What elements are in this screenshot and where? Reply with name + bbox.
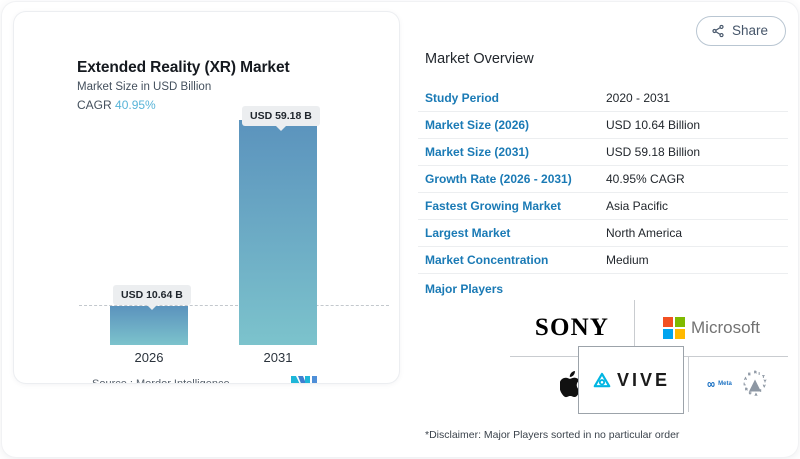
row-label: Market Size (2031)	[425, 145, 606, 159]
svg-text:L: L	[744, 382, 746, 386]
bar-value-label-2026: USD 10.64 B	[113, 285, 191, 305]
overview-title: Market Overview	[425, 51, 534, 67]
svg-text:U: U	[749, 391, 751, 395]
svg-text:E: E	[748, 372, 750, 376]
svg-text:I: I	[759, 371, 760, 375]
row-value: Asia Pacific	[606, 199, 668, 213]
chart-source: Source : Mordor Intelligence	[92, 378, 230, 383]
bar-2031[interactable]	[239, 120, 317, 345]
vive-triangle-icon	[592, 371, 612, 390]
table-row: Market Size (2031) USD 59.18 Billion	[418, 139, 788, 166]
row-label: Largest Market	[425, 226, 606, 240]
overview-table: Study Period 2020 - 2031 Market Size (20…	[418, 85, 788, 304]
chart-card: Extended Reality (XR) Market Market Size…	[14, 12, 399, 383]
share-button-label: Share	[732, 24, 768, 38]
table-row: Largest Market North America	[418, 220, 788, 247]
share-button[interactable]: Share	[696, 16, 786, 46]
table-row: Market Size (2026) USD 10.64 Billion	[418, 112, 788, 139]
microsoft-logo-text: Microsoft	[691, 318, 760, 338]
svg-text:Y: Y	[764, 379, 766, 383]
row-label: Major Players	[425, 282, 606, 296]
row-label: Market Concentration	[425, 253, 606, 267]
svg-text:A: A	[744, 377, 746, 381]
vive-logo: VIVE	[578, 346, 684, 414]
svg-text:V: V	[763, 384, 765, 388]
x-axis-tick-2031: 2031	[239, 350, 317, 365]
bar-value-label-2031: USD 59.18 B	[242, 106, 320, 126]
meta-starburst-icon: RI TY VI AU RL AE	[740, 369, 770, 399]
row-value: 40.95% CAGR	[606, 172, 685, 186]
share-nodes-icon	[711, 24, 725, 38]
table-row: Growth Rate (2026 - 2031) 40.95% CAGR	[418, 166, 788, 193]
row-label: Study Period	[425, 91, 606, 105]
row-label: Market Size (2026)	[425, 118, 606, 132]
screenshot-root: Share Extended Reality (XR) Market Marke…	[0, 0, 800, 459]
row-label: Growth Rate (2026 - 2031)	[425, 172, 606, 186]
bar-2026[interactable]	[110, 306, 188, 345]
row-value: North America	[606, 226, 682, 240]
meta-logo-text: Meta	[718, 381, 732, 387]
svg-text:R: R	[754, 370, 757, 374]
row-value: USD 59.18 Billion	[606, 145, 700, 159]
microsoft-squares-icon	[663, 317, 685, 339]
vive-logo-text: VIVE	[617, 370, 670, 391]
mordor-intelligence-logo	[291, 375, 319, 383]
major-players-logo-grid: SONY Microsoft	[510, 300, 788, 412]
table-row: Fastest Growing Market Asia Pacific	[418, 193, 788, 220]
market-overview-panel: Market Overview Study Period 2020 - 2031…	[418, 12, 788, 452]
svg-text:T: T	[762, 374, 764, 378]
meta-infinity-icon	[707, 381, 716, 388]
svg-text:A: A	[755, 392, 757, 396]
row-value: Medium	[606, 253, 649, 267]
bar-chart-plot: USD 10.64 B USD 59.18 B 2026 2031	[14, 12, 399, 383]
row-label: Fastest Growing Market	[425, 199, 606, 213]
row-value: 2020 - 2031	[606, 91, 670, 105]
table-row: Market Concentration Medium	[418, 247, 788, 274]
sony-logo-text: SONY	[535, 314, 609, 342]
meta-logo: Meta RI TY VI AU RL AE	[689, 356, 788, 412]
table-row: Study Period 2020 - 2031	[418, 85, 788, 112]
svg-text:R: R	[745, 387, 748, 391]
row-value: USD 10.64 Billion	[606, 118, 700, 132]
svg-text:I: I	[760, 389, 761, 393]
x-axis-tick-2026: 2026	[110, 350, 188, 365]
disclaimer-text: *Disclaimer: Major Players sorted in no …	[425, 429, 679, 441]
